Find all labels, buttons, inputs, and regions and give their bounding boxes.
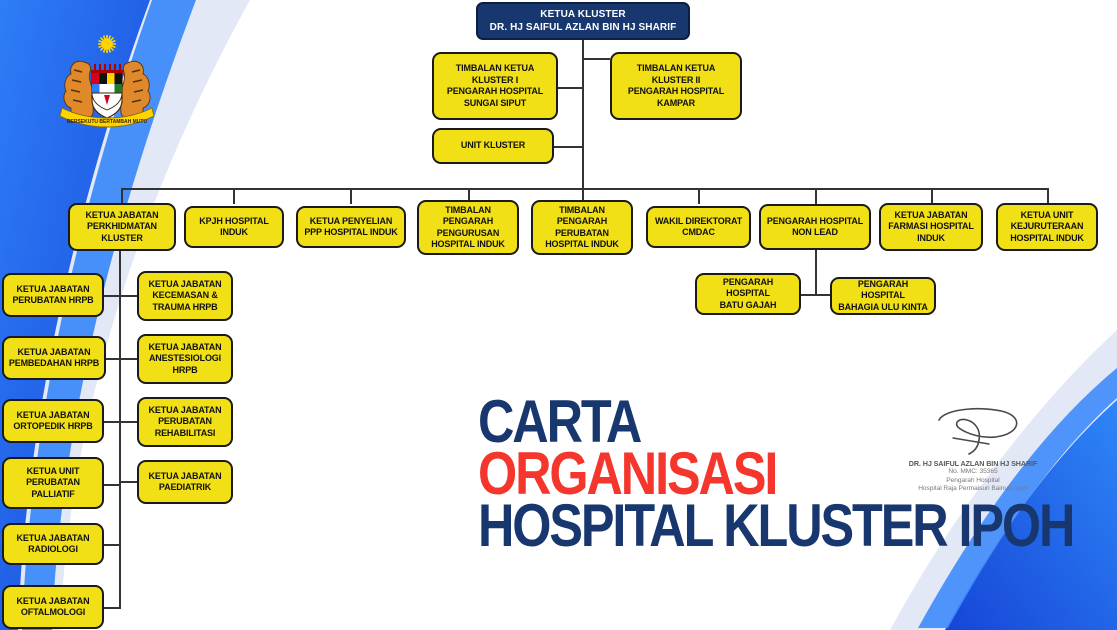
- node-ketua-jabatan-perubatan-hrpb[interactable]: KETUA JABATAN PERUBATAN HRPB: [2, 273, 104, 317]
- jata-negara-emblem: BERSEKUTU BERTAMBAH MUTU: [48, 28, 166, 130]
- node-timbalan-ketua-kluster-2[interactable]: TIMBALAN KETUA KLUSTER II PENGARAH HOSPI…: [610, 52, 742, 120]
- node-ketua-jabatan-paediatrik[interactable]: KETUA JABATAN PAEDIATRIK: [137, 460, 233, 504]
- edge-drop-2: [233, 188, 235, 204]
- node-ketua-jabatan-kecemasan-trauma-hrpb[interactable]: KETUA JABATAN KECEMASAN & TRAUMA HRPB: [137, 271, 233, 321]
- node-ketua-jabatan-ortopedik-hrpb[interactable]: KETUA JABATAN ORTOPEDIK HRPB: [2, 399, 104, 443]
- edge-dept-R2: [119, 358, 139, 360]
- node-ketua-kluster[interactable]: KETUA KLUSTERDR. HJ SAIFUL AZLAN BIN HJ …: [476, 2, 690, 40]
- node-timbalan-pengarah-perubatan[interactable]: TIMBALAN PENGARAH PERUBATAN HOSPITAL IND…: [531, 200, 633, 255]
- node-ketua-jabatan-perkhidmatan-kluster[interactable]: KETUA JABATAN PERKHIDMATAN KLUSTER: [68, 203, 176, 251]
- node-ketua-penyelian-ppp[interactable]: KETUA PENYELIAN PPP HOSPITAL INDUK: [296, 206, 406, 248]
- edge-dept-L5: [103, 544, 121, 546]
- edge-drop-6: [698, 188, 700, 204]
- node-unit-kluster[interactable]: UNIT KLUSTER: [432, 128, 554, 164]
- node-pengarah-hospital-batu-gajah[interactable]: PENGARAH HOSPITAL BATU GAJAH: [695, 273, 801, 315]
- signature-scribble-icon: [893, 404, 1053, 456]
- edge-deputy2: [582, 58, 610, 60]
- edge-drop-9: [1047, 188, 1049, 204]
- edge-dept-L4: [103, 484, 121, 486]
- root-text: KETUA KLUSTERDR. HJ SAIFUL AZLAN BIN HJ …: [490, 8, 677, 34]
- edge-root-stem: [582, 40, 584, 188]
- node-timbalan-ketua-kluster-1[interactable]: TIMBALAN KETUA KLUSTER I PENGARAH HOSPIT…: [432, 52, 558, 120]
- edge-dept-L6: [103, 607, 121, 609]
- edge-nonlead-left: [799, 294, 816, 296]
- node-ketua-unit-perubatan-palliatif[interactable]: KETUA UNIT PERUBATAN PALLIATIF: [2, 457, 104, 509]
- edge-deputy1: [558, 87, 584, 89]
- edge-main-bus: [121, 188, 1049, 190]
- node-pengarah-hospital-bahagia-ulu-kinta[interactable]: PENGARAH HOSPITAL BAHAGIA ULU KINTA: [830, 277, 936, 315]
- edge-unit-kluster: [553, 146, 584, 148]
- edge-drop-7: [815, 188, 817, 204]
- edge-drop-8: [931, 188, 933, 204]
- node-ketua-jabatan-pembedahan-hrpb[interactable]: KETUA JABATAN PEMBEDAHAN HRPB: [2, 336, 106, 380]
- edge-dept-spine: [119, 250, 121, 608]
- signature-hospital: Hospital Raja Permaisuri Bainun, Ipoh: [893, 485, 1053, 494]
- edge-nonlead-stem: [815, 250, 817, 295]
- node-ketua-jabatan-radiologi[interactable]: KETUA JABATAN RADIOLOGI: [2, 523, 104, 565]
- node-ketua-jabatan-farmasi[interactable]: KETUA JABATAN FARMASI HOSPITAL INDUK: [879, 203, 983, 251]
- edge-dept-R3: [119, 421, 139, 423]
- signature-name: DR. HJ SAIFUL AZLAN BIN HJ SHARIF: [893, 459, 1053, 468]
- node-ketua-jabatan-oftalmologi[interactable]: KETUA JABATAN OFTALMOLOGI: [2, 585, 104, 629]
- signature-position: Pengarah Hospital: [893, 477, 1053, 486]
- node-kpjh-hospital-induk[interactable]: KPJH HOSPITAL INDUK: [184, 206, 284, 248]
- node-ketua-jabatan-anestesiologi-hrpb[interactable]: KETUA JABATAN ANESTESIOLOGI HRPB: [137, 334, 233, 384]
- signature-block: DR. HJ SAIFUL AZLAN BIN HJ SHARIF No. MM…: [893, 404, 1053, 494]
- edge-drop-3: [350, 188, 352, 204]
- svg-text:BERSEKUTU BERTAMBAH MUTU: BERSEKUTU BERTAMBAH MUTU: [67, 119, 148, 125]
- title-line-hospital: HOSPITAL KLUSTER IPOH: [478, 500, 1073, 552]
- edge-dept-R4: [119, 481, 139, 483]
- edge-dept-R1: [119, 295, 139, 297]
- org-chart-poster: BERSEKUTU BERTAMBAH MUTU KETUA KLUSTERDR…: [0, 0, 1117, 630]
- node-ketua-unit-kejuruteraan[interactable]: KETUA UNIT KEJURUTERAAN HOSPITAL INDUK: [996, 203, 1098, 251]
- node-pengarah-hospital-non-lead[interactable]: PENGARAH HOSPITAL NON LEAD: [759, 204, 871, 250]
- node-wakil-direktorat-cmdac[interactable]: WAKIL DIREKTORAT CMDAC: [646, 206, 751, 248]
- edge-drop-1: [121, 188, 123, 204]
- signature-mmc: No. MMC: 35365: [893, 468, 1053, 477]
- node-ketua-jabatan-perubatan-rehabilitasi[interactable]: KETUA JABATAN PERUBATAN REHABILITASI: [137, 397, 233, 447]
- node-timbalan-pengarah-pengurusan[interactable]: TIMBALAN PENGARAH PENGURUSAN HOSPITAL IN…: [417, 200, 519, 255]
